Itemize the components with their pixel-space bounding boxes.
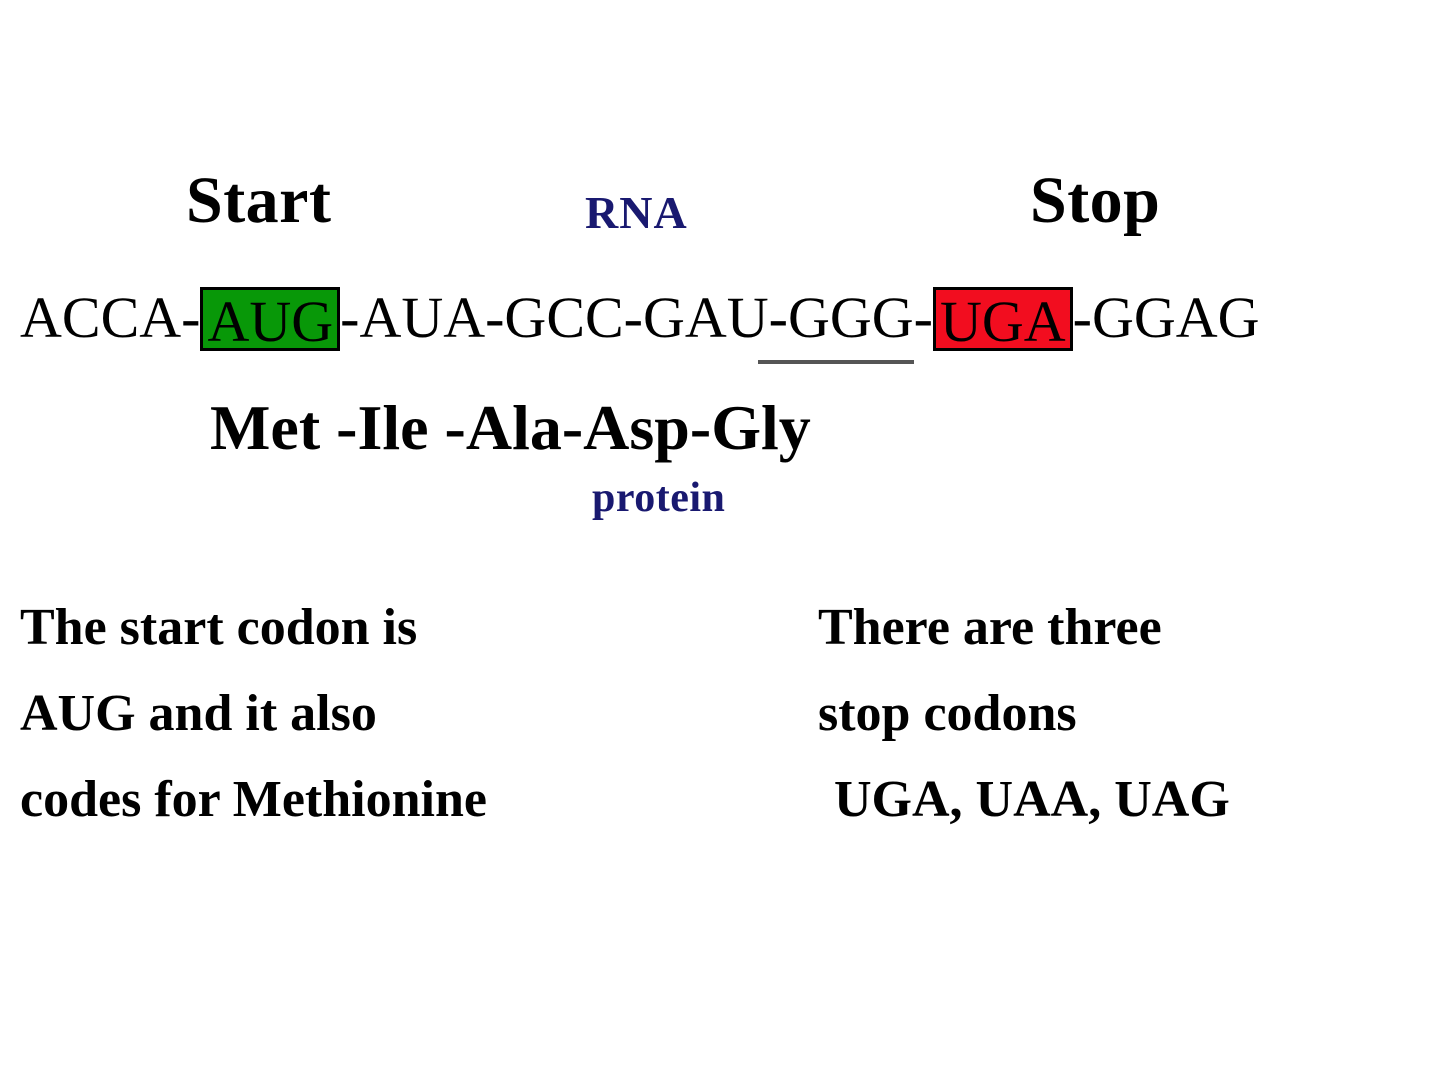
- rna-label: RNA: [585, 190, 688, 236]
- rna-segment-after-start: -AUA-GCC-: [340, 289, 643, 347]
- rna-codon-diagram: Start RNA Stop ACCA-AUG-AUA-GCC-GAU-GGG-…: [0, 0, 1440, 1080]
- protein-sequence-line: Met -Ile -Ala-Asp-Gly: [210, 396, 811, 460]
- rna-prefix: ACCA-: [20, 289, 200, 347]
- rna-segment-after-gau: -GGG-: [769, 289, 933, 347]
- rna-codon-gau: GAU: [643, 289, 769, 347]
- rna-sequence-line: ACCA-AUG-AUA-GCC-GAU-GGG-UGA-GGAG: [20, 283, 1260, 353]
- note-start-codon: The start codon is AUG and it also codes…: [20, 585, 487, 843]
- stop-label: Stop: [1030, 168, 1160, 234]
- gau-codon-underline: [758, 360, 914, 364]
- note-left-line-1: The start codon is: [20, 585, 487, 671]
- start-label: Start: [186, 168, 331, 234]
- note-stop-codons: There are three stop codons UGA, UAA, UA…: [818, 585, 1230, 843]
- stop-codon-uga: UGA: [933, 287, 1073, 351]
- rna-suffix: -GGAG: [1073, 289, 1260, 347]
- note-right-line-3: UGA, UAA, UAG: [818, 757, 1230, 843]
- start-codon-aug: AUG: [200, 287, 340, 351]
- protein-label: protein: [592, 477, 725, 519]
- note-left-line-3: codes for Methionine: [20, 757, 487, 843]
- note-right-line-1: There are three: [818, 585, 1230, 671]
- note-right-line-2: stop codons: [818, 671, 1230, 757]
- note-left-line-2: AUG and it also: [20, 671, 487, 757]
